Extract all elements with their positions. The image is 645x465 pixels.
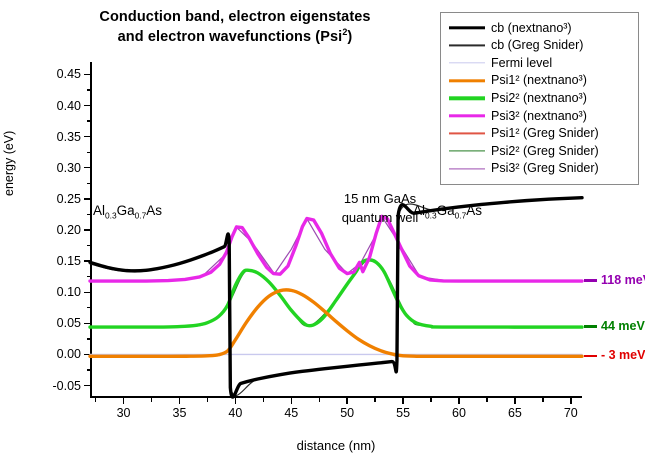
x-tick-minor [207, 398, 208, 402]
x-tick-minor [542, 398, 543, 402]
legend-swatch-icon [449, 57, 485, 69]
chart-title-line1: Conduction band, electron eigenstates [40, 8, 430, 28]
x-tick-minor [263, 398, 264, 402]
x-tick-minor [374, 398, 375, 402]
y-tick-label: 0.00 [57, 347, 81, 361]
legend-item-5[interactable]: Psi3² (nextnano³) [449, 107, 630, 125]
y-tick-label: 0.15 [57, 254, 81, 268]
psi3-energy-dash [584, 279, 597, 282]
legend-item-1[interactable]: cb (Greg Snider) [449, 37, 630, 55]
legend-label: Fermi level [491, 57, 552, 70]
legend-label: cb (Greg Snider) [491, 39, 583, 52]
barrier-right-ga: Ga [437, 203, 455, 218]
legend-swatch-icon [449, 127, 485, 139]
psi1-energy-dash [584, 355, 597, 358]
y-tick-label: 0.30 [57, 161, 81, 175]
annotation-barrier-left: Al0.3Ga0.7As [93, 203, 162, 218]
legend-swatch-icon [449, 22, 485, 34]
x-tick-mark [514, 398, 515, 404]
annotation-well-line2: quantum well [342, 210, 419, 225]
psi2-energy-dash [584, 325, 597, 328]
legend-swatch-icon [449, 92, 485, 104]
legend-item-3[interactable]: Psi1² (nextnano³) [449, 72, 630, 90]
legend-label: Psi3² (Greg Snider) [491, 162, 599, 175]
x-tick-label: 50 [340, 406, 354, 420]
chart-title-line2: and electron wavefunctions (Psi2) [40, 28, 430, 48]
x-tick-label: 65 [508, 406, 522, 420]
barrier-left-sub1: 0.3 [105, 211, 117, 221]
legend-swatch-icon [449, 110, 485, 122]
curve-psi2-nextnano [90, 260, 582, 327]
y-axis-title: energy (eV) [2, 131, 16, 196]
legend-swatch-icon [449, 75, 485, 87]
y-tick-label: 0.25 [57, 192, 81, 206]
x-tick-mark [123, 398, 124, 404]
chart-root: Conduction band, electron eigenstates an… [0, 0, 645, 465]
legend-item-4[interactable]: Psi2² (nextnano³) [449, 89, 630, 107]
legend-label: Psi2² (Greg Snider) [491, 145, 599, 158]
x-tick-label: 60 [452, 406, 466, 420]
y-tick-label: 0.35 [57, 130, 81, 144]
barrier-right-al: Al [413, 203, 425, 218]
legend-item-0[interactable]: cb (nextnano³) [449, 19, 630, 37]
psi2-energy-label: 44 meV [584, 319, 645, 333]
legend-label: Psi1² (nextnano³) [491, 74, 587, 87]
x-tick-label: 40 [228, 406, 242, 420]
x-tick-minor [151, 398, 152, 402]
y-tick-label: 0.05 [57, 316, 81, 330]
x-tick-minor [430, 398, 431, 402]
x-tick-minor [319, 398, 320, 402]
y-tick-label: 0.10 [57, 285, 81, 299]
legend-label: Psi2² (nextnano³) [491, 92, 587, 105]
chart-title: Conduction band, electron eigenstates an… [40, 8, 430, 47]
legend-swatch-icon [449, 163, 485, 175]
legend-swatch-icon [449, 145, 485, 157]
y-tick-label: 0.40 [57, 99, 81, 113]
x-tick-mark [346, 398, 347, 404]
chart-legend: cb (nextnano³)cb (Greg Snider)Fermi leve… [440, 12, 639, 185]
x-tick-label: 35 [173, 406, 187, 420]
curve-psi2-greg-snider [90, 259, 582, 328]
x-tick-mark [235, 398, 236, 404]
psi2-energy-text: 44 meV [601, 319, 645, 333]
legend-item-2[interactable]: Fermi level [449, 54, 630, 72]
x-tick-minor [486, 398, 487, 402]
barrier-left-ga: Ga [117, 203, 135, 218]
legend-item-7[interactable]: Psi2² (Greg Snider) [449, 142, 630, 160]
x-axis-title: distance (nm) [90, 438, 582, 453]
legend-item-8[interactable]: Psi3² (Greg Snider) [449, 160, 630, 178]
y-tick-label: 0.20 [57, 223, 81, 237]
legend-swatch-icon [449, 39, 485, 51]
barrier-right-as: As [466, 203, 482, 218]
x-tick-label: 70 [564, 406, 578, 420]
barrier-left-as: As [146, 203, 162, 218]
x-tick-label: 45 [284, 406, 298, 420]
legend-label: Psi1² (Greg Snider) [491, 127, 599, 140]
psi1-energy-label: - 3 meV [584, 348, 645, 362]
x-tick-mark [458, 398, 459, 404]
y-tick-label: 0.45 [57, 67, 81, 81]
legend-item-6[interactable]: Psi1² (Greg Snider) [449, 125, 630, 143]
legend-label: cb (nextnano³) [491, 22, 572, 35]
psi1-energy-text: - 3 meV [601, 348, 645, 362]
x-tick-mark [402, 398, 403, 404]
annotation-barrier-right: Al0.3Ga0.7As [413, 203, 482, 218]
barrier-right-sub1: 0.3 [425, 211, 437, 221]
chart-title-line2-close: ) [347, 29, 352, 45]
x-tick-mark [179, 398, 180, 404]
legend-label: Psi3² (nextnano³) [491, 110, 587, 123]
x-tick-label: 30 [117, 406, 131, 420]
barrier-right-sub2: 0.7 [455, 211, 467, 221]
annotation-well-line1: 15 nm GaAs [344, 191, 416, 206]
x-tick-minor [95, 398, 96, 402]
barrier-left-al: Al [93, 203, 105, 218]
y-tick-label: -0.05 [53, 379, 82, 393]
chart-title-line2-text: and electron wavefunctions (Psi [118, 29, 343, 45]
barrier-left-sub2: 0.7 [135, 211, 147, 221]
x-tick-mark [291, 398, 292, 404]
psi3-energy-text: 118 meV [601, 273, 645, 287]
psi3-energy-label: 118 meV [584, 273, 645, 287]
x-tick-label: 55 [396, 406, 410, 420]
x-tick-mark [570, 398, 571, 404]
